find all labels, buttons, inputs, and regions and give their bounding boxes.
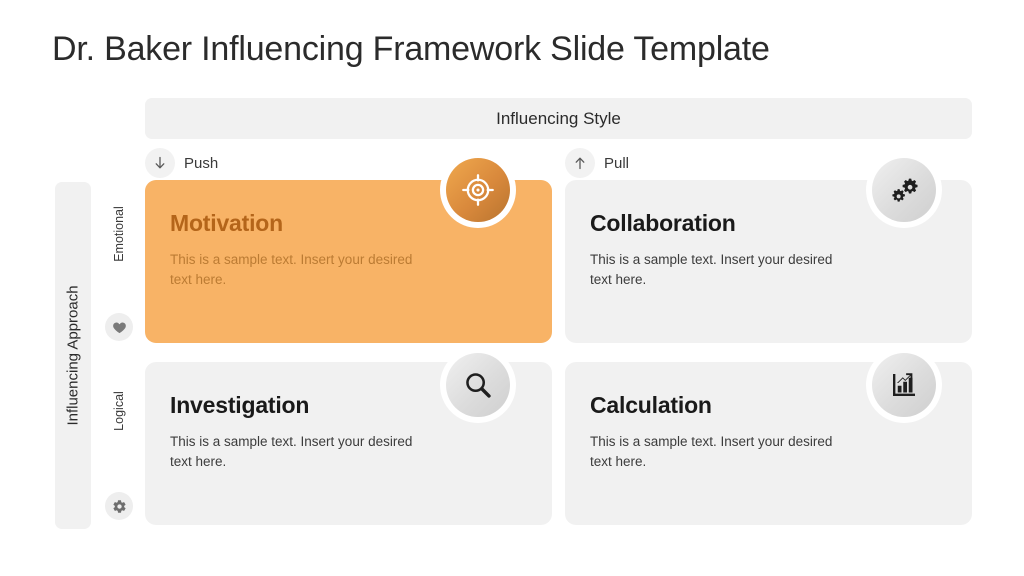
card-calculation-title: Calculation <box>590 392 712 419</box>
card-motivation-badge[interactable] <box>440 152 516 228</box>
bar-chart-icon <box>872 353 936 417</box>
heart-icon <box>105 313 133 341</box>
card-calculation-badge[interactable] <box>866 347 942 423</box>
column-header-push: Push <box>145 148 218 178</box>
influencing-approach-label: Influencing Approach <box>65 285 82 425</box>
page-title: Dr. Baker Influencing Framework Slide Te… <box>52 30 770 69</box>
gears-icon <box>872 158 936 222</box>
card-motivation-title: Motivation <box>170 210 283 237</box>
row-axis-logical: Logical <box>101 390 137 520</box>
card-collaboration-title: Collaboration <box>590 210 736 237</box>
influencing-style-header: Influencing Style <box>145 98 972 139</box>
arrow-up-icon <box>565 148 595 178</box>
target-icon <box>446 158 510 222</box>
card-investigation-badge[interactable] <box>440 347 516 423</box>
influencing-approach-axis: Influencing Approach <box>55 182 91 529</box>
row-axis-emotional-label: Emotional <box>112 206 126 262</box>
card-collaboration-badge[interactable] <box>866 152 942 228</box>
arrow-down-icon <box>145 148 175 178</box>
column-header-pull: Pull <box>565 148 629 178</box>
row-axis-emotional: Emotional <box>101 205 137 341</box>
column-header-pull-label: Pull <box>604 155 629 172</box>
magnifier-icon <box>446 353 510 417</box>
gear-icon <box>105 492 133 520</box>
card-investigation-title: Investigation <box>170 392 309 419</box>
card-collaboration-body: This is a sample text. Insert your desir… <box>590 250 840 289</box>
influencing-style-label: Influencing Style <box>496 109 621 129</box>
card-motivation-body: This is a sample text. Insert your desir… <box>170 250 420 289</box>
column-header-push-label: Push <box>184 155 218 172</box>
card-calculation-body: This is a sample text. Insert your desir… <box>590 432 840 471</box>
row-axis-logical-label: Logical <box>112 391 126 431</box>
card-investigation-body: This is a sample text. Insert your desir… <box>170 432 420 471</box>
